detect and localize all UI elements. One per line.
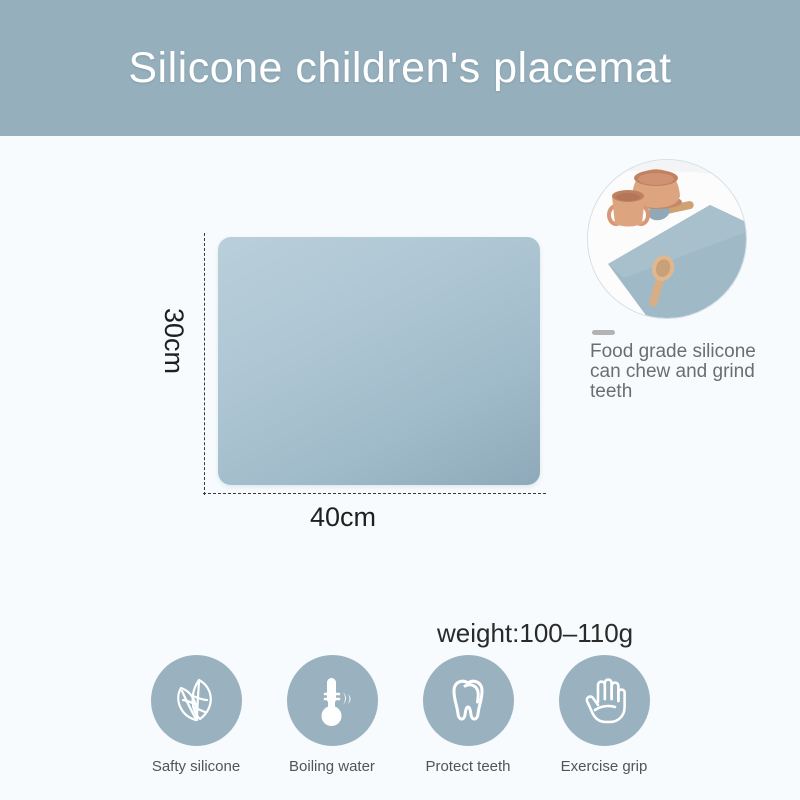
feature-icon-badge (287, 655, 378, 746)
product-dimension-diagram: 30cm 40cm (160, 228, 560, 533)
feature-label: Boiling water (289, 758, 375, 775)
lifestyle-feature-text: Food grade silicone can chew and grind t… (590, 342, 790, 402)
feature-item-protect-teeth: Protect teeth (408, 655, 528, 785)
placemat-illustration (218, 237, 540, 485)
weight-label: weight:100–110g (437, 618, 633, 649)
lifestyle-photo-image (588, 160, 746, 318)
thermometer-icon (305, 674, 359, 728)
feature-item-safty-silicone: Safty silicone (136, 655, 256, 785)
feature-accent-dash (592, 330, 615, 335)
lifestyle-photo-card: Food grade silicone can chew and grind t… (588, 160, 746, 318)
feature-item-boiling-water: Boiling water (272, 655, 392, 785)
feature-label: Protect teeth (425, 758, 510, 775)
feature-label: Exercise grip (561, 758, 648, 775)
header-banner: Silicone children's placemat (0, 0, 800, 136)
feature-icon-badge (423, 655, 514, 746)
tooth-icon (441, 674, 495, 728)
lifestyle-photo-circle (588, 160, 746, 318)
width-dimension-label: 40cm (310, 502, 376, 533)
feature-label: Safty silicone (152, 758, 240, 775)
page-title: Silicone children's placemat (128, 47, 671, 90)
width-dimension-line (203, 493, 546, 494)
hand-icon (577, 674, 631, 728)
feature-icon-row: Safty silicone Boiling water (136, 655, 664, 785)
height-dimension-line (204, 233, 205, 495)
leaf-icon (169, 674, 223, 728)
feature-icon-badge (559, 655, 650, 746)
feature-icon-badge (151, 655, 242, 746)
height-dimension-label: 30cm (158, 308, 189, 374)
feature-item-exercise-grip: Exercise grip (544, 655, 664, 785)
